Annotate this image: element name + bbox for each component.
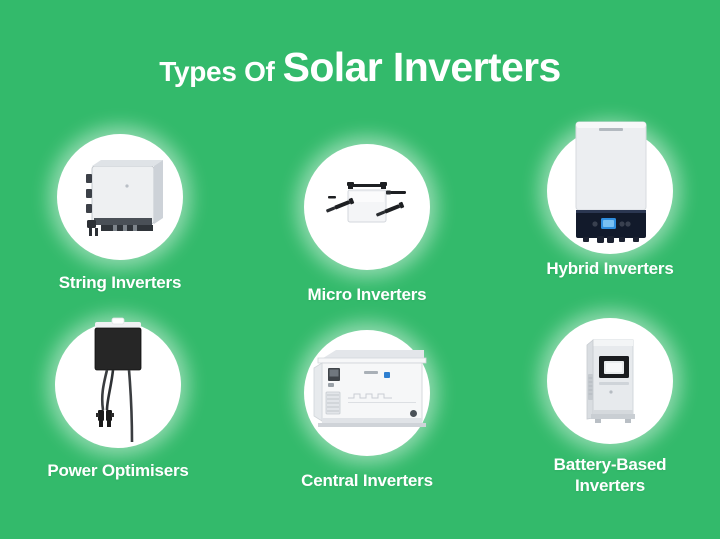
solar-inverters-infographic: Types OfSolar Inverters — [0, 0, 720, 539]
circle-backdrop-micro — [304, 144, 430, 270]
card-label-micro: Micro Inverters — [267, 284, 467, 305]
power-optimiser-icon — [55, 322, 181, 448]
card-label-hybrid: Hybrid Inverters — [510, 258, 710, 279]
circle-backdrop-battery — [547, 318, 673, 444]
hybrid-inverter-icon — [547, 128, 673, 254]
card-label-battery-line1: Battery-Based — [510, 454, 710, 475]
battery-based-inverter-icon — [547, 318, 673, 444]
page-title: Types OfSolar Inverters — [0, 44, 720, 91]
micro-inverter-icon — [304, 144, 430, 270]
card-label-central: Central Inverters — [267, 470, 467, 491]
circle-backdrop-power — [55, 322, 181, 448]
card-hybrid-inverters[interactable]: Hybrid Inverters — [510, 128, 710, 279]
card-label-string: String Inverters — [20, 272, 220, 293]
title-lead: Types Of — [159, 56, 274, 87]
string-inverter-icon — [57, 134, 183, 260]
circle-backdrop-hybrid — [547, 128, 673, 254]
card-label-battery-line2: Inverters — [510, 475, 710, 496]
circle-backdrop-central — [304, 330, 430, 456]
card-power-optimisers[interactable]: Power Optimisers — [18, 322, 218, 481]
card-battery-based-inverters[interactable]: Battery-Based Inverters — [510, 318, 710, 496]
circle-backdrop-string — [57, 134, 183, 260]
card-central-inverters[interactable]: Central Inverters — [267, 330, 467, 491]
card-string-inverters[interactable]: String Inverters — [20, 134, 220, 293]
card-label-battery: Battery-Based Inverters — [510, 454, 710, 496]
title-emphasis: Solar Inverters — [283, 44, 561, 90]
card-micro-inverters[interactable]: Micro Inverters — [267, 144, 467, 305]
central-inverter-icon — [304, 330, 430, 456]
